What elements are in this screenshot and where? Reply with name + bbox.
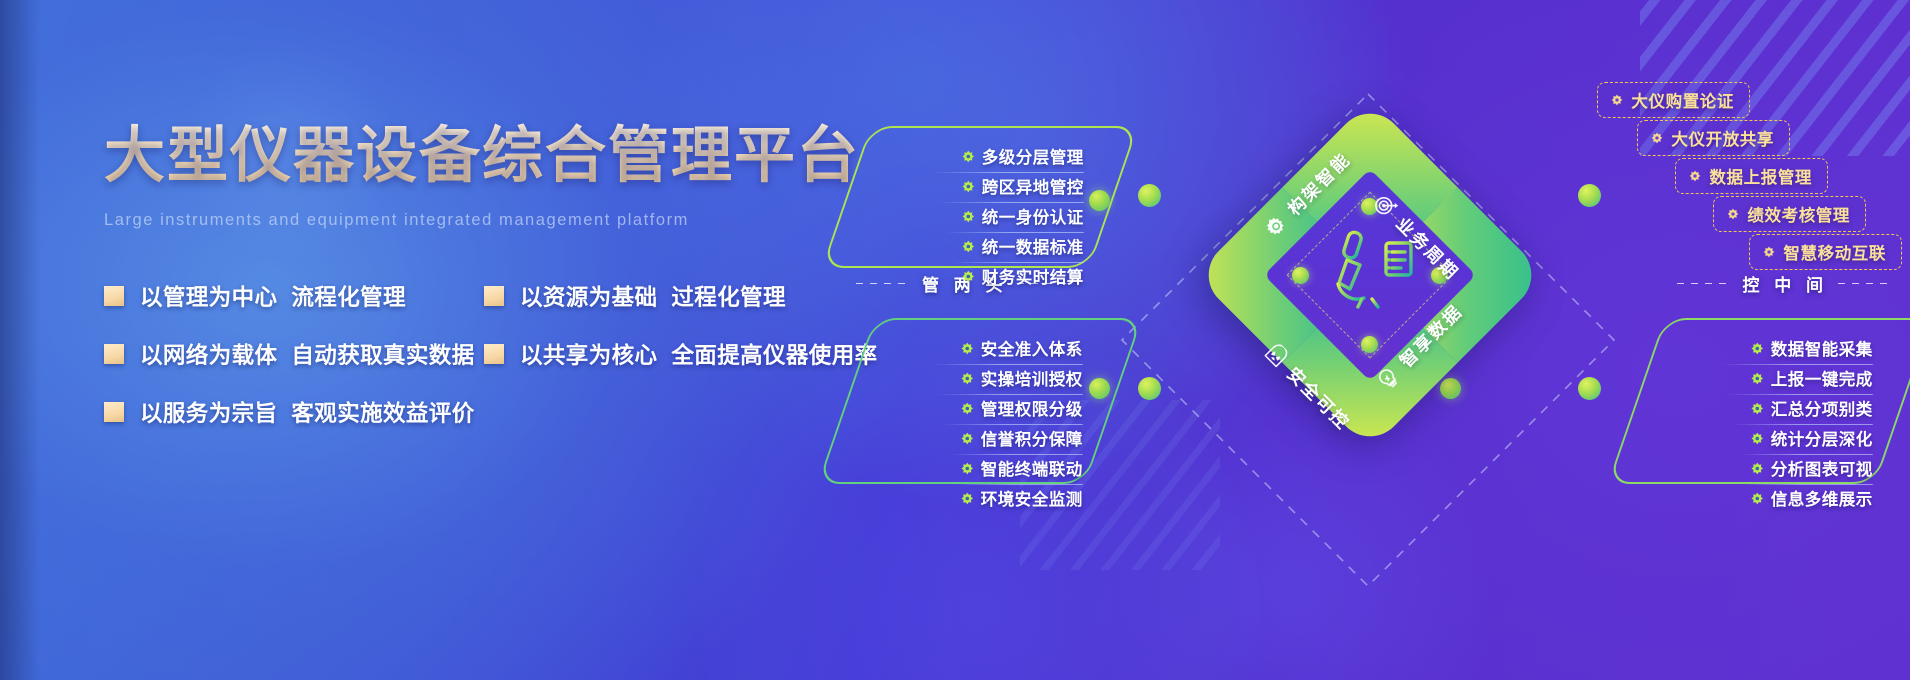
flower-star-icon: [962, 240, 975, 253]
headline-block: 大型仪器设备综合管理平台 Large instruments and equip…: [104, 120, 904, 428]
list-separator: [943, 424, 1083, 425]
list-item-text: 多级分层管理: [982, 144, 1084, 168]
core-diamond: 构架智能 业务周期: [1195, 100, 1545, 450]
list-item-text: 分析图表可视: [1771, 456, 1873, 480]
list-item-text: 财务实时结算: [982, 264, 1084, 288]
list-separator: [931, 364, 1083, 365]
feature-item-2: 以网络为载体自动获取真实数据: [104, 338, 484, 370]
flower-star-icon: [962, 150, 975, 163]
flower-star-icon: [961, 492, 974, 505]
list-item-text: 统一身份认证: [982, 204, 1084, 228]
list-item-text: 数据智能采集: [1771, 336, 1873, 360]
list-separator: [1739, 454, 1873, 455]
feature-item-4: 以服务为宗旨客观实施效益评价: [104, 396, 484, 428]
flower-star-icon: [1751, 462, 1764, 475]
flower-star-icon: [1751, 372, 1764, 385]
list-item: 分析图表可视: [1751, 456, 1873, 480]
panel-inner: 多级分层管理 跨区异地管控 统一身份认证 统一数据标准: [842, 128, 1106, 302]
list-item: 财务实时结算: [962, 264, 1084, 288]
list-item: 汇总分项别类: [1751, 396, 1873, 420]
square-bullet-icon: [484, 286, 504, 306]
list-item: 管理权限分级: [961, 396, 1083, 420]
flower-star-icon: [1751, 492, 1764, 505]
flower-star-icon: [1763, 246, 1775, 258]
list-item: 信誉积分保障: [961, 426, 1083, 450]
flower-star-icon: [961, 402, 974, 415]
tag-purchase-review[interactable]: 大仪购置论证: [1597, 82, 1750, 118]
list-item: 多级分层管理: [962, 144, 1084, 168]
list-item-text: 环境安全监测: [981, 486, 1083, 510]
tag-open-sharing[interactable]: 大仪开放共享: [1637, 120, 1790, 156]
list-separator: [932, 172, 1084, 173]
divider-label-right: 控 中 间: [1677, 271, 1894, 296]
accent-dot-4: [1578, 377, 1601, 400]
tag-text: 智慧移动互联: [1783, 240, 1886, 264]
flower-star-icon: [1727, 208, 1739, 220]
flower-star-icon: [961, 432, 974, 445]
tag-text: 绩效考核管理: [1747, 202, 1850, 226]
list-item: 上报一键完成: [1751, 366, 1873, 390]
list-separator: [949, 454, 1083, 455]
feature-text-2: 以网络为载体自动获取真实数据: [140, 338, 475, 370]
dash-line-icon: [1677, 283, 1733, 284]
list-item-text: 实操培训授权: [981, 366, 1083, 390]
page-title: 大型仪器设备综合管理平台: [104, 120, 904, 192]
tag-text: 数据上报管理: [1709, 164, 1812, 188]
list-item-text: 智能终端联动: [981, 456, 1083, 480]
flower-star-icon: [962, 210, 975, 223]
inner-dot-bottom: [1361, 336, 1378, 353]
list-item: 数据智能采集: [1751, 336, 1873, 360]
list-item-text: 管理权限分级: [981, 396, 1083, 420]
flower-star-icon: [962, 270, 975, 283]
flower-star-icon: [962, 180, 975, 193]
architecture-diagram: 管 两 头 控 中 间: [840, 0, 1910, 680]
list-item-text: 安全准入体系: [981, 336, 1083, 360]
page-subtitle: Large instruments and equipment integrat…: [104, 211, 904, 230]
list-separator: [955, 484, 1083, 485]
list-item: 安全准入体系: [961, 336, 1083, 360]
list-item-text: 统计分层深化: [1771, 426, 1873, 450]
flower-star-icon: [1689, 170, 1701, 182]
list-item: 跨区异地管控: [962, 174, 1084, 198]
list-item-text: 统一数据标准: [982, 234, 1084, 258]
list-item-text: 跨区异地管控: [982, 174, 1084, 198]
panel-manage-both-ends-bottom: 安全准入体系 实操培训授权 管理权限分级 信誉积分保障: [817, 318, 1142, 484]
list-separator: [953, 262, 1084, 263]
accent-dot-1: [1138, 184, 1161, 207]
list-item: 环境安全监测: [961, 486, 1083, 510]
square-bullet-icon: [104, 344, 124, 364]
flower-star-icon: [1751, 342, 1764, 355]
list-item: 实操培训授权: [961, 366, 1083, 390]
feature-text-4: 以服务为宗旨客观实施效益评价: [140, 396, 475, 428]
list-item-text: 上报一键完成: [1771, 366, 1873, 390]
list-separator: [939, 202, 1084, 203]
flower-star-icon: [1611, 94, 1623, 106]
feature-text-1: 以资源为基础过程化管理: [520, 280, 786, 312]
list-item: 智能终端联动: [961, 456, 1083, 480]
panel-inner: 安全准入体系 实操培训授权 管理权限分级 信誉积分保障: [841, 320, 1105, 524]
square-bullet-icon: [104, 286, 124, 306]
list-item: 统一身份认证: [962, 204, 1084, 228]
flower-star-icon: [1651, 132, 1663, 144]
list-separator: [1733, 424, 1873, 425]
inner-dot-left: [1292, 267, 1309, 284]
tag-smart-mobile[interactable]: 智慧移动互联: [1749, 234, 1902, 270]
dash-line-icon: [1838, 283, 1894, 284]
tag-text: 大仪开放共享: [1671, 126, 1774, 150]
panel-manage-both-ends-top: 多级分层管理 跨区异地管控 统一身份认证 统一数据标准: [822, 126, 1139, 268]
banner-root: 大型仪器设备综合管理平台 Large instruments and equip…: [0, 0, 1910, 680]
tag-data-reporting[interactable]: 数据上报管理: [1675, 158, 1828, 194]
list-separator: [1745, 484, 1873, 485]
panel-control-middle: 数据智能采集 上报一键完成 汇总分项别类 统计分层深化: [1607, 318, 1910, 484]
list-item-text: 汇总分项别类: [1771, 396, 1873, 420]
square-bullet-icon: [484, 344, 504, 364]
flower-star-icon: [961, 372, 974, 385]
list-item: 统计分层深化: [1751, 426, 1873, 450]
divider-label-right-text: 控 中 间: [1743, 271, 1828, 296]
list-separator: [1727, 394, 1873, 395]
flower-star-icon: [961, 462, 974, 475]
list-item-text: 信息多维展示: [1771, 486, 1873, 510]
tag-performance-review[interactable]: 绩效考核管理: [1713, 196, 1866, 232]
feature-list: 以管理为中心流程化管理 以资源为基础过程化管理 以网络为载体自动获取真实数据 以…: [104, 280, 904, 428]
left-edge-vignette: [0, 0, 40, 680]
square-bullet-icon: [104, 402, 124, 422]
feature-item-0: 以管理为中心流程化管理: [104, 280, 484, 312]
feature-text-0: 以管理为中心流程化管理: [140, 280, 406, 312]
flower-star-icon: [1751, 402, 1764, 415]
flower-star-icon: [1751, 432, 1764, 445]
tag-text: 大仪购置论证: [1631, 88, 1734, 112]
accent-dot-2: [1578, 184, 1601, 207]
feature-text-3: 以共享为核心全面提高仪器使用率: [520, 338, 878, 370]
list-item: 信息多维展示: [1751, 486, 1873, 510]
flower-star-icon: [961, 342, 974, 355]
panel-inner: 数据智能采集 上报一键完成 汇总分项别类 统计分层深化: [1631, 320, 1895, 524]
list-separator: [937, 394, 1083, 395]
accent-dot-3: [1138, 377, 1161, 400]
list-separator: [946, 232, 1084, 233]
list-separator: [1721, 364, 1873, 365]
list-item: 统一数据标准: [962, 234, 1084, 258]
list-item-text: 信誉积分保障: [981, 426, 1083, 450]
